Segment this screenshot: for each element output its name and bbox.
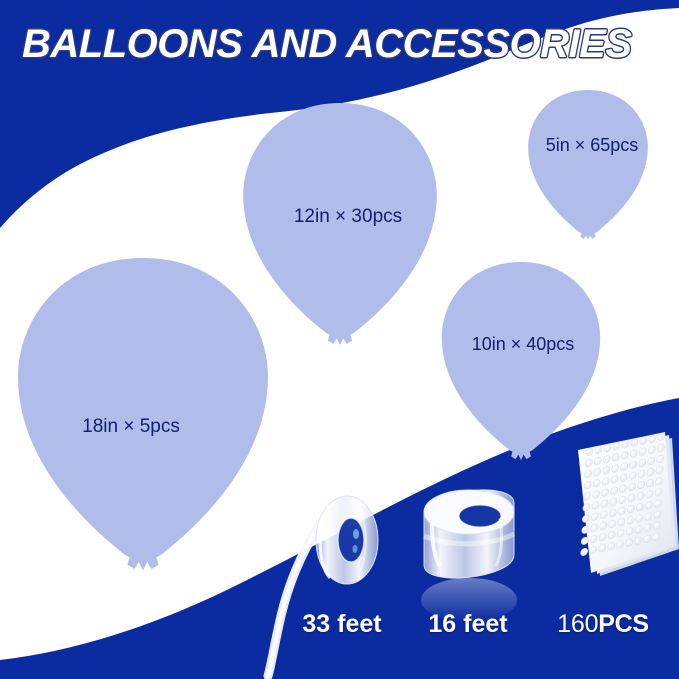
- balloon-18in: [18, 258, 268, 570]
- glue-dot-sheets: [578, 432, 679, 576]
- tape-roll: [421, 490, 517, 622]
- balloon-12in: [243, 103, 437, 345]
- balloon-5in: [528, 90, 648, 240]
- product-artwork: [0, 0, 679, 679]
- balloon-10in: [442, 262, 600, 460]
- ribbon-roll: [268, 496, 378, 676]
- product-listing-image: BALLOONS AND ACCESSORIES 18in × 5pcs 12i…: [0, 0, 679, 679]
